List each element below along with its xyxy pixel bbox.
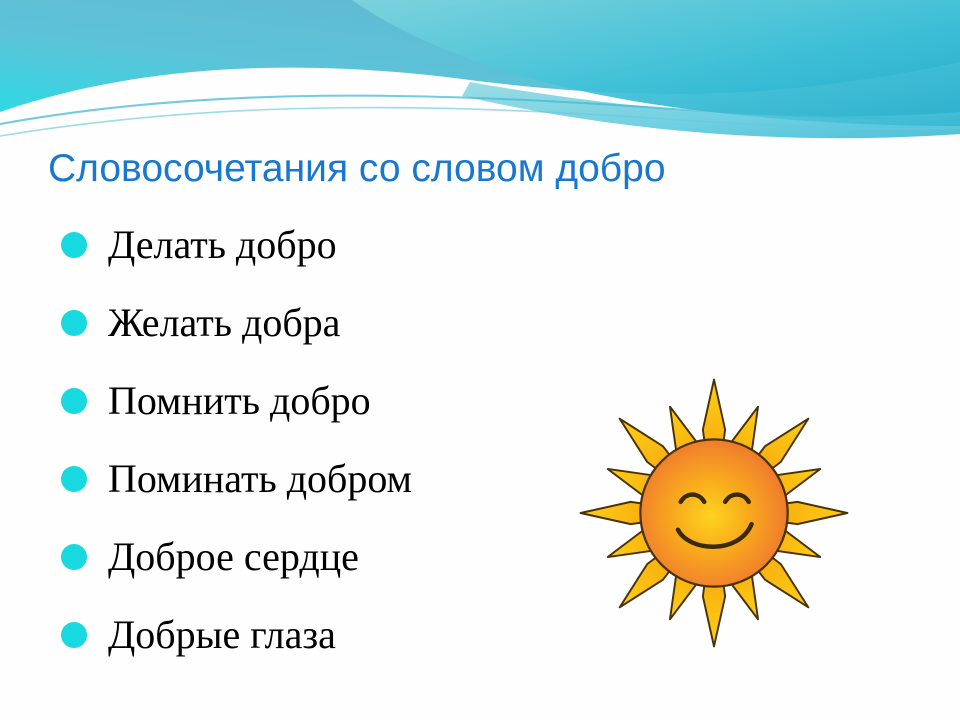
bullet-dot-icon	[61, 466, 87, 492]
list-item: Доброе сердце	[56, 518, 576, 596]
list-item: Добрые глаза	[56, 596, 576, 674]
bullet-dot-icon	[61, 544, 87, 570]
wave-banner-decoration	[0, 0, 960, 150]
wave-band-right	[352, 0, 960, 126]
smiling-sun-icon	[575, 372, 853, 654]
list-item-label: Поминать добром	[108, 457, 412, 501]
sun-face	[640, 439, 787, 586]
wave-band-top	[0, 0, 960, 112]
list-item: Поминать добром	[56, 440, 576, 518]
phrase-list: Делать добро Желать добра Помнить добро …	[56, 206, 576, 674]
bullet-dot-icon	[61, 388, 87, 414]
list-item-label: Доброе сердце	[108, 535, 359, 579]
list-item-label: Делать добро	[108, 223, 337, 267]
list-item-label: Желать добра	[108, 301, 340, 345]
list-item-label: Добрые глаза	[108, 613, 336, 657]
wave-line-inner	[0, 108, 960, 136]
bullet-dot-icon	[61, 232, 87, 258]
presentation-slide: Словосочетания со словом добро Делать до…	[0, 0, 960, 720]
bullet-dot-icon	[61, 310, 87, 336]
list-item: Делать добро	[56, 206, 576, 284]
page-title: Словосочетания со словом добро	[48, 146, 928, 192]
wave-line-outer	[0, 96, 960, 124]
list-item: Помнить добро	[56, 362, 576, 440]
sun-illustration	[575, 372, 853, 654]
wave-band-mid	[462, 82, 960, 138]
list-item: Желать добра	[56, 284, 576, 362]
bullet-dot-icon	[61, 622, 87, 648]
wave-banner-icon	[0, 0, 960, 150]
list-item-label: Помнить добро	[108, 379, 371, 423]
